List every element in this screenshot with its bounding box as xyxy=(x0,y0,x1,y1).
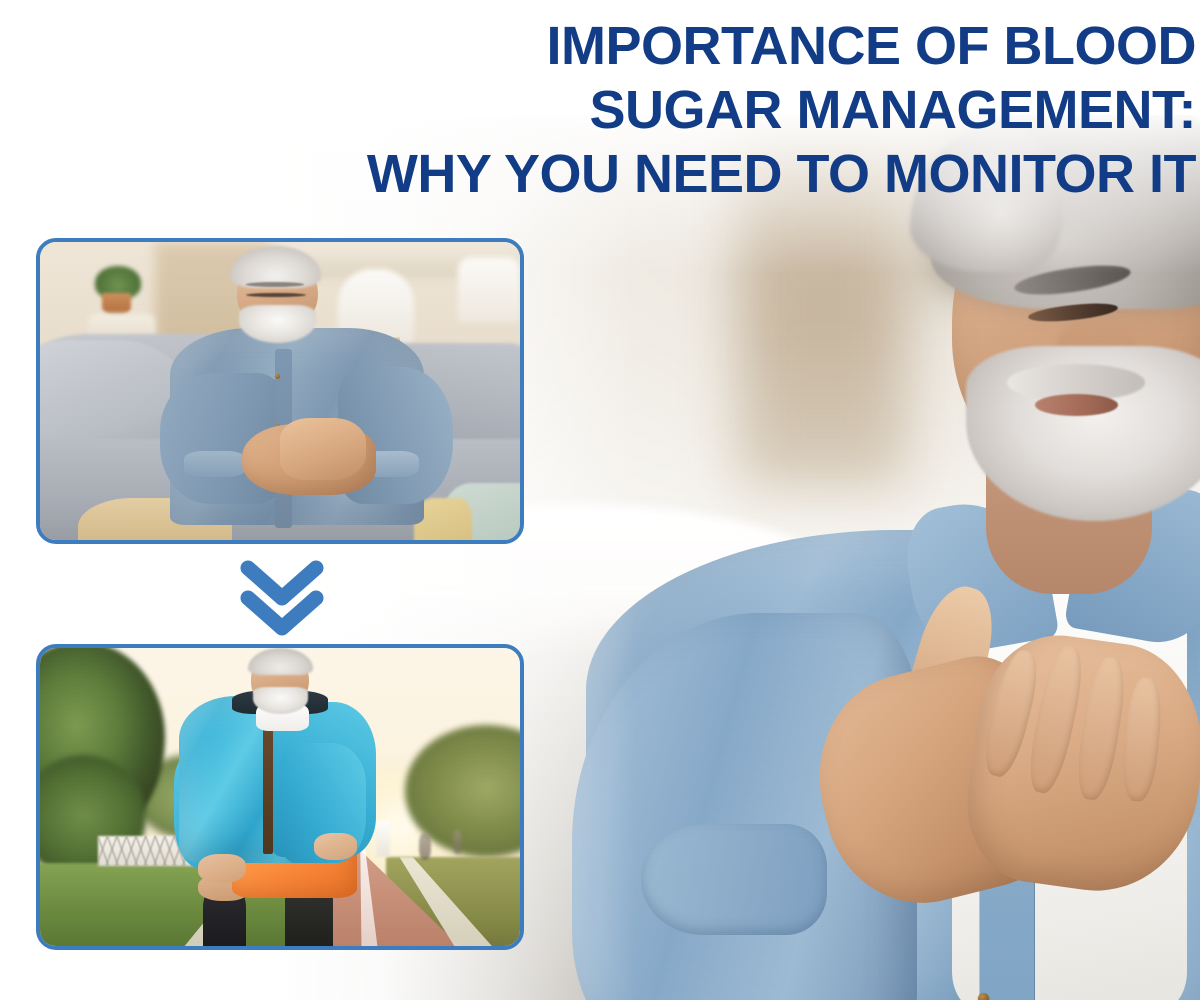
t1-upper-hand xyxy=(280,418,366,481)
t1-plant-pot xyxy=(102,293,131,314)
title-line-3: WHY YOU NEED TO MONITOR IT xyxy=(0,142,1196,206)
t2-jacket-zipper xyxy=(263,711,273,854)
page-title: IMPORTANCE OF BLOOD SUGAR MANAGEMENT: WH… xyxy=(0,0,1200,206)
t1-eyebrow xyxy=(246,282,304,287)
t1-closed-eyes xyxy=(246,293,306,297)
t2-white-post xyxy=(376,821,390,857)
t2-distant-person xyxy=(419,833,431,860)
hero-finger xyxy=(1119,676,1164,803)
poster-canvas: IMPORTANCE OF BLOOD SUGAR MANAGEMENT: WH… xyxy=(0,0,1200,1000)
t2-hand-right xyxy=(314,833,357,860)
before-photo-card[interactable] xyxy=(36,238,524,544)
before-photo-image xyxy=(40,242,520,540)
title-line-1: IMPORTANCE OF BLOOD xyxy=(0,0,1196,78)
t2-hand-on-knee xyxy=(198,854,246,884)
after-photo-card[interactable] xyxy=(36,644,524,950)
t2-white-beard xyxy=(253,687,308,714)
after-photo-image xyxy=(40,648,520,946)
title-line-2: SUGAR MANAGEMENT: xyxy=(0,78,1196,142)
t1-shirt-button xyxy=(275,374,280,379)
t1-lamp xyxy=(458,257,520,323)
hero-shirt-button xyxy=(978,993,989,1000)
t2-distant-person xyxy=(453,830,463,854)
hero-lip xyxy=(1035,394,1118,416)
hero-shirt-cuff xyxy=(641,824,828,934)
t1-cuff-left xyxy=(184,451,246,478)
double-chevron-down-icon xyxy=(240,558,324,638)
